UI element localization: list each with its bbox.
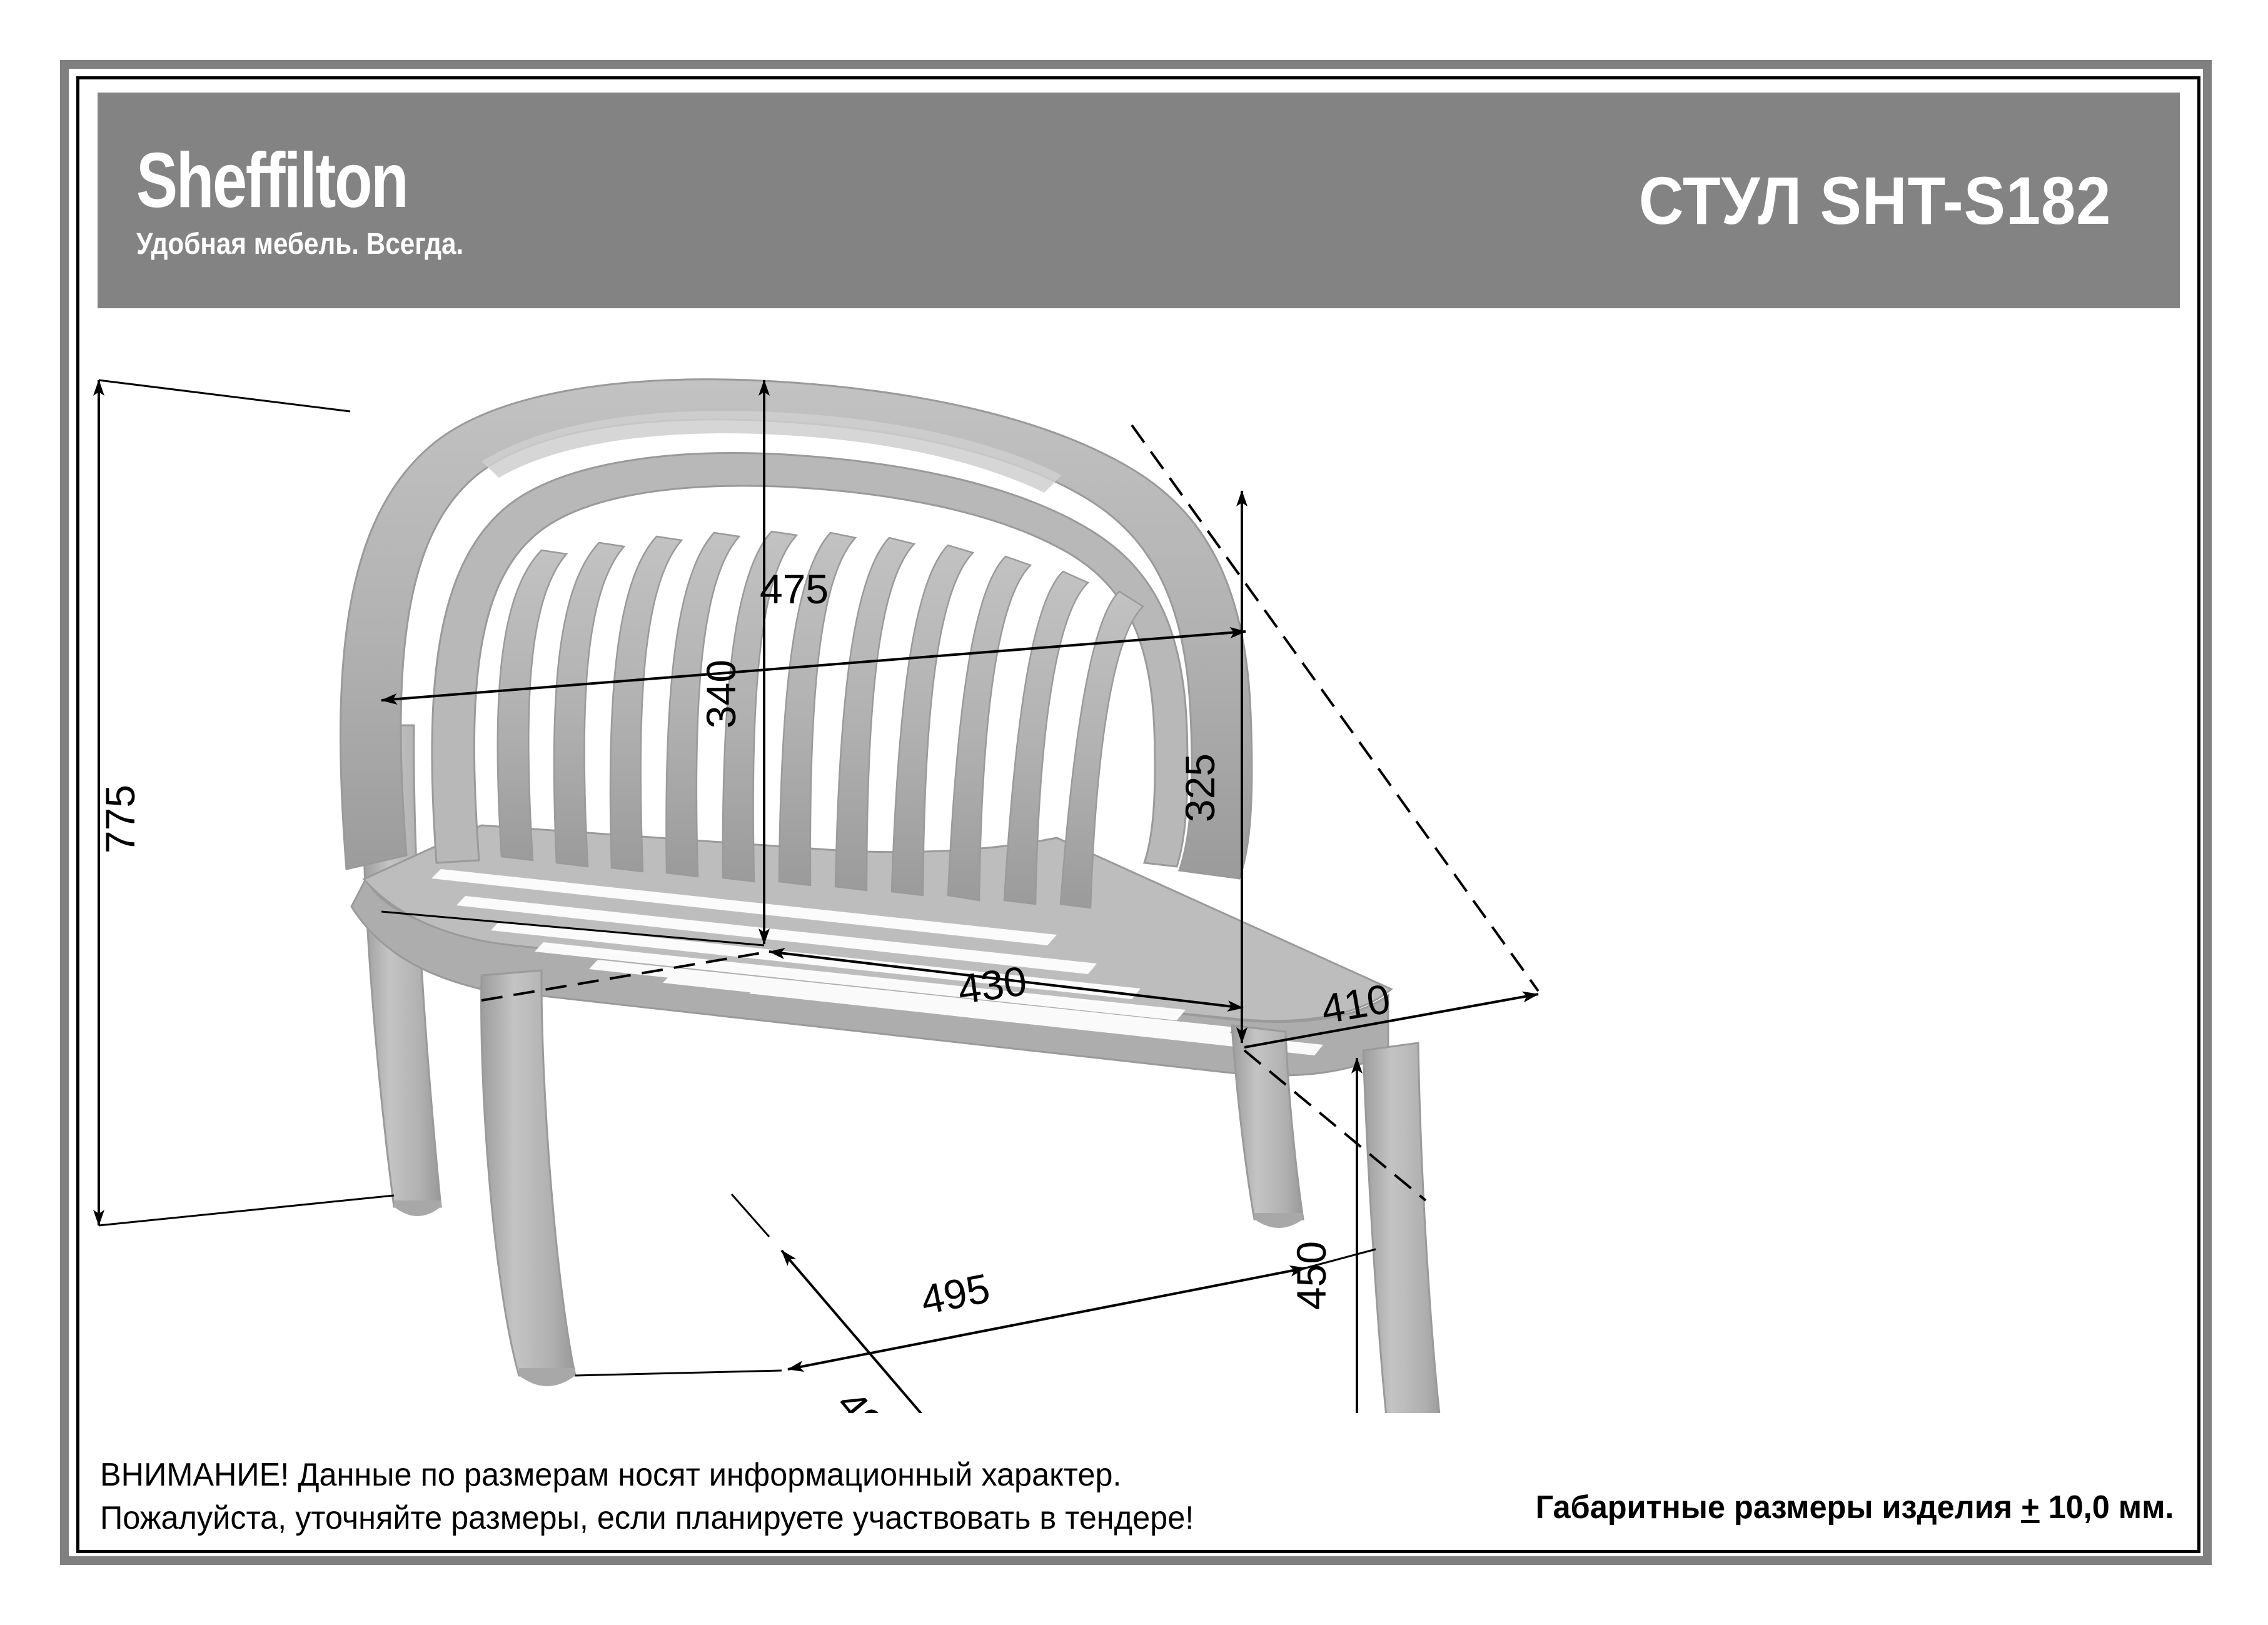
dim-label-340: 340 [698, 660, 744, 728]
tolerance-note: Габаритные размеры изделия + 10,0 мм. [1535, 1489, 2174, 1526]
footer: ВНИМАНИЕ! Данные по размерам носят инфор… [100, 1454, 2182, 1547]
dim-label-325: 325 [1177, 753, 1223, 822]
disclaimer-line-1: ВНИМАНИЕ! Данные по размерам носят инфор… [100, 1454, 1194, 1497]
chair-leg-front-right [1363, 1043, 1444, 1413]
dim-label-430: 430 [955, 957, 1029, 1013]
chair-illustration [341, 380, 1444, 1413]
tolerance-value: 10,0 мм. [2039, 1489, 2174, 1526]
logo-wordmark: Sheffilton [136, 142, 407, 219]
disclaimer-text: ВНИМАНИЕ! Данные по размерам носят инфор… [100, 1454, 1194, 1539]
chair-drawing-svg: 775 475 340 325 430 410 495 450 495 400 [81, 313, 2195, 1413]
brand-logo: Sheffilton Удобная мебель. Всегда. [136, 142, 508, 259]
dim-label-450: 450 [1288, 1241, 1334, 1310]
plus-minus-icon: + [2021, 1489, 2039, 1526]
technical-drawing: 775 475 340 325 430 410 495 450 495 400 [81, 313, 2195, 1413]
dim-label-495-upper: 495 [917, 1265, 994, 1324]
dim-base-depth-lower [732, 1194, 1057, 1413]
disclaimer-line-2: Пожалуйста, уточняйте размеры, если план… [100, 1497, 1194, 1540]
tolerance-prefix: Габаритные размеры изделия [1535, 1489, 2021, 1526]
drawing-page: Sheffilton Удобная мебель. Всегда. СТУЛ … [0, 0, 2268, 1625]
chair-leg-front-left [481, 970, 575, 1386]
logo-tagline: Удобная мебель. Всегда. [136, 229, 463, 259]
page-title: СТУЛ SHT-S182 [1638, 161, 2111, 239]
dim-label-775: 775 [97, 785, 143, 853]
header-bar: Sheffilton Удобная мебель. Всегда. СТУЛ … [98, 93, 2180, 308]
dim-label-475: 475 [760, 566, 829, 612]
dim-label-495-lower: 495 [828, 1381, 907, 1413]
